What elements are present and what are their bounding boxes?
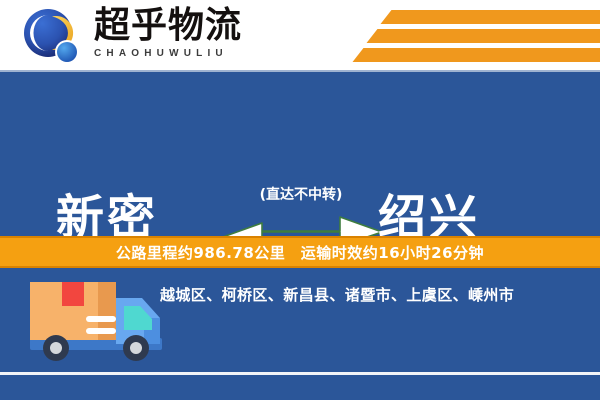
route-panel: 新密 (直达不中转) 【往返运输】 绍兴	[0, 72, 600, 236]
brand-name-en: CHAOHUWULIU	[94, 48, 274, 59]
header-stripe-3	[353, 48, 600, 62]
coverage-area-panel: 越城区、柯桥区、新昌县、诸暨市、上虞区、嵊州市	[0, 268, 600, 400]
brand-block: 超乎物流 CHAOHUWULIU	[94, 6, 274, 59]
brand-name-cn: 超乎物流	[94, 6, 274, 46]
route-info-bar: 公路里程约986.78公里 运输时效约16小时26分钟	[0, 236, 600, 268]
bottom-divider	[0, 372, 600, 375]
circle-crescent-logo-icon	[22, 7, 84, 67]
header-stripe-2	[367, 29, 600, 43]
logistics-route-banner: 超乎物流 CHAOHUWULIU 新密 (直达不中转) 【往返运输】 绍兴	[0, 0, 600, 400]
coverage-districts-list: 越城区、柯桥区、新昌县、诸暨市、上虞区、嵊州市	[160, 284, 590, 305]
direct-service-note: (直达不中转)	[215, 184, 387, 204]
banner-header: 超乎物流 CHAOHUWULIU	[0, 0, 600, 72]
delivery-truck-icon	[24, 274, 176, 372]
distance-and-duration-text: 公路里程约986.78公里 运输时效约16小时26分钟	[116, 242, 484, 263]
header-stripe-1	[381, 10, 600, 24]
